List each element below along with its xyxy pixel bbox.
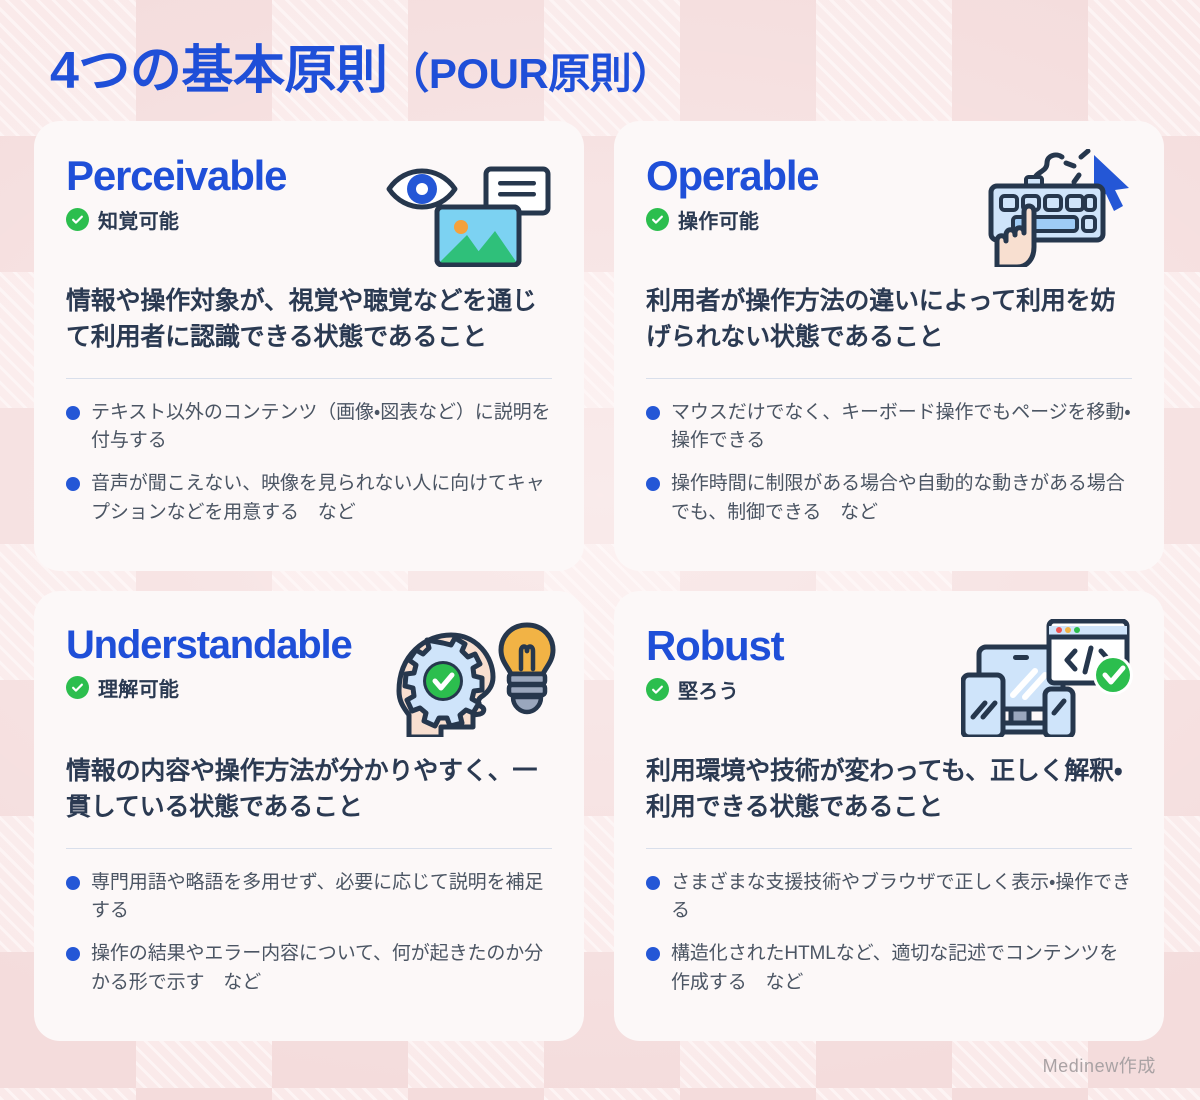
card-divider bbox=[66, 378, 552, 379]
list-item: 操作時間に制限がある場合や自動的な動きがある場合でも、制御できる など bbox=[646, 470, 1132, 528]
keyboard-hand-cursor-icon bbox=[961, 149, 1136, 267]
bullet-text: 専門用語や略語を多用せず、必要に応じて説明を補足する bbox=[91, 869, 552, 927]
card-understandable: Understandable 理解可能 bbox=[34, 591, 584, 1041]
card-subtitle: 堅ろう bbox=[678, 675, 739, 704]
list-item: 構造化されたHTMLなど、適切な記述でコンテンツを作成する など bbox=[646, 940, 1132, 998]
eye-image-caption-icon bbox=[381, 149, 556, 267]
card-header: Perceivable 知覚可能 bbox=[66, 155, 552, 259]
list-item: テキスト以外のコンテンツ（画像・図表など）に説明を付与する bbox=[66, 399, 552, 457]
bullet-dot-icon bbox=[66, 406, 80, 420]
card-bullet-list: マウスだけでなく、キーボード操作でもページを移動・操作できる 操作時間に制限があ… bbox=[646, 399, 1132, 529]
head-gear-lightbulb-icon bbox=[381, 619, 556, 737]
card-subtitle: 操作可能 bbox=[678, 205, 759, 234]
bullet-dot-icon bbox=[66, 876, 80, 890]
list-item: 音声が聞こえない、映像を見られない人に向けてキャプションなどを用意する など bbox=[66, 470, 552, 528]
check-circle-icon bbox=[646, 208, 669, 231]
bullet-text: マウスだけでなく、キーボード操作でもページを移動・操作できる bbox=[671, 399, 1132, 457]
card-bullet-list: テキスト以外のコンテンツ（画像・図表など）に説明を付与する 音声が聞こえない、映… bbox=[66, 399, 552, 529]
card-header: Understandable 理解可能 bbox=[66, 625, 552, 729]
bullet-dot-icon bbox=[646, 406, 660, 420]
bullet-text: テキスト以外のコンテンツ（画像・図表など）に説明を付与する bbox=[91, 399, 552, 457]
card-description: 情報や操作対象が、視覚や聴覚などを通じて利用者に認識できる状態であること bbox=[66, 283, 552, 356]
page-title-main: 4つの基本原則 bbox=[50, 42, 387, 100]
bullet-text: 音声が聞こえない、映像を見られない人に向けてキャプションなどを用意する など bbox=[91, 470, 552, 528]
card-bullet-list: 専門用語や略語を多用せず、必要に応じて説明を補足する 操作の結果やエラー内容につ… bbox=[66, 869, 552, 999]
card-robust: Robust 堅ろう bbox=[614, 591, 1164, 1041]
infographic-page: 4つの基本原則（POUR原則） Perceivable 知覚可能 bbox=[0, 0, 1200, 1100]
card-divider bbox=[66, 848, 552, 849]
bullet-text: 構造化されたHTMLなど、適切な記述でコンテンツを作成する など bbox=[671, 940, 1132, 998]
devices-code-check-icon bbox=[961, 619, 1136, 737]
footer-credit: Medinew作成 bbox=[1043, 1052, 1156, 1078]
bullet-dot-icon bbox=[646, 477, 660, 491]
card-subtitle: 知覚可能 bbox=[98, 205, 179, 234]
check-circle-icon bbox=[646, 678, 669, 701]
page-title-paren: （POUR原則） bbox=[387, 50, 672, 97]
card-operable: Operable 操作可能 bbox=[614, 121, 1164, 571]
bullet-text: さまざまな支援技術やブラウザで正しく表示・操作できる bbox=[671, 869, 1132, 927]
card-header: Operable 操作可能 bbox=[646, 155, 1132, 259]
list-item: マウスだけでなく、キーボード操作でもページを移動・操作できる bbox=[646, 399, 1132, 457]
bullet-dot-icon bbox=[646, 947, 660, 961]
bullet-text: 操作の結果やエラー内容について、何が起きたのか分かる形で示す など bbox=[91, 940, 552, 998]
card-divider bbox=[646, 848, 1132, 849]
card-perceivable: Perceivable 知覚可能 bbox=[34, 121, 584, 571]
card-description: 利用環境や技術が変わっても、正しく解釈・利用できる状態であること bbox=[646, 753, 1132, 826]
principles-grid: Perceivable 知覚可能 bbox=[34, 121, 1166, 1041]
bullet-text: 操作時間に制限がある場合や自動的な動きがある場合でも、制御できる など bbox=[671, 470, 1132, 528]
bullet-dot-icon bbox=[646, 876, 660, 890]
card-bullet-list: さまざまな支援技術やブラウザで正しく表示・操作できる 構造化されたHTMLなど、… bbox=[646, 869, 1132, 999]
card-subtitle: 理解可能 bbox=[98, 673, 179, 702]
card-header: Robust 堅ろう bbox=[646, 625, 1132, 729]
list-item: 専門用語や略語を多用せず、必要に応じて説明を補足する bbox=[66, 869, 552, 927]
list-item: 操作の結果やエラー内容について、何が起きたのか分かる形で示す など bbox=[66, 940, 552, 998]
card-divider bbox=[646, 378, 1132, 379]
card-description: 利用者が操作方法の違いによって利用を妨げられない状態であること bbox=[646, 283, 1132, 356]
card-description: 情報の内容や操作方法が分かりやすく、一貫している状態であること bbox=[66, 753, 552, 826]
page-title: 4つの基本原則（POUR原則） bbox=[34, 0, 1166, 99]
list-item: さまざまな支援技術やブラウザで正しく表示・操作できる bbox=[646, 869, 1132, 927]
check-circle-icon bbox=[66, 208, 89, 231]
check-circle-icon bbox=[66, 676, 89, 699]
bullet-dot-icon bbox=[66, 477, 80, 491]
bullet-dot-icon bbox=[66, 947, 80, 961]
